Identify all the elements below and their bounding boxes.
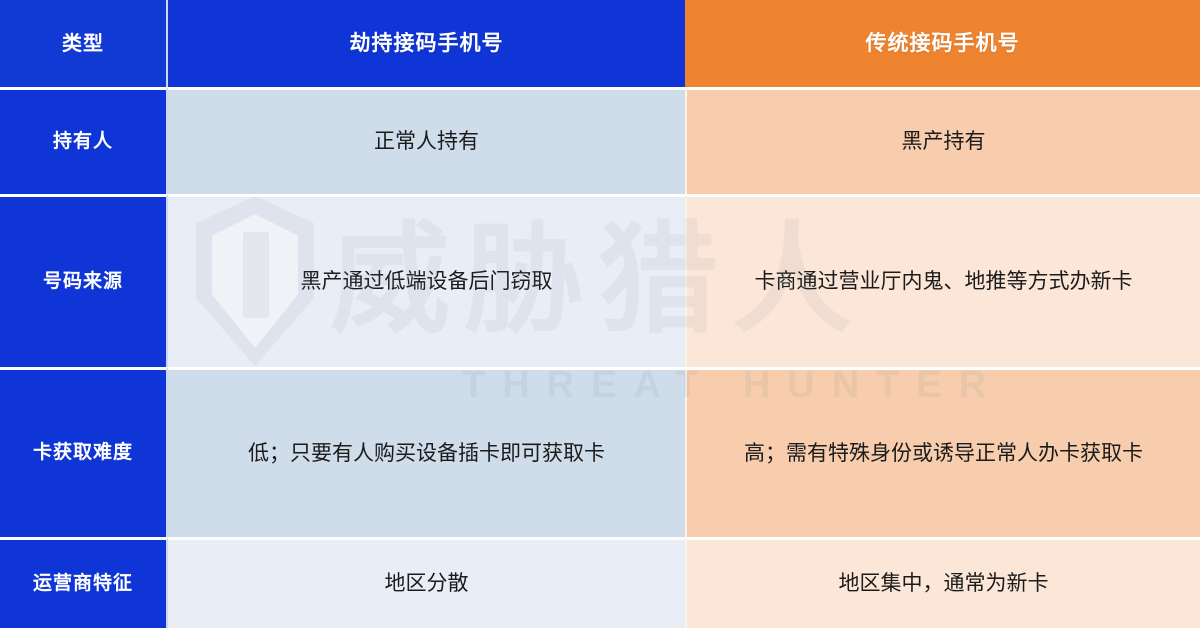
table-row-label-holder-text: 持有人 (43, 129, 123, 156)
table-row-label-holder: 持有人 (0, 87, 168, 194)
table-cell-card-difficulty-traditional: 高；需有特殊身份或诱导正常人办卡获取卡 (685, 367, 1200, 537)
table-cell-card-difficulty-hijacked: 低；只要有人购买设备插卡即可获取卡 (168, 367, 685, 537)
table-cell-card-difficulty-traditional-text: 高；需有特殊身份或诱导正常人办卡获取卡 (734, 439, 1153, 468)
table-row-label-card-difficulty: 卡获取难度 (0, 367, 168, 537)
table-cell-carrier-traits-hijacked-text: 地区分散 (375, 569, 479, 598)
table-cell-holder-hijacked-text: 正常人持有 (364, 127, 489, 156)
table-row-label-carrier-traits-text: 运营商特征 (23, 571, 143, 598)
table-row-label-card-difficulty-text: 卡获取难度 (23, 440, 143, 467)
table-header-type-label: 类型 (52, 30, 114, 58)
table-cell-holder-hijacked: 正常人持有 (168, 87, 685, 194)
table-header-traditional-label: 传统接码手机号 (856, 29, 1030, 58)
table-cell-holder-traditional: 黑产持有 (685, 87, 1200, 194)
table-cell-carrier-traits-traditional-text: 地区集中，通常为新卡 (829, 569, 1059, 598)
table-header-hijacked-label: 劫持接码手机号 (340, 29, 514, 58)
table-cell-holder-traditional-text: 黑产持有 (892, 127, 996, 156)
table-cell-card-difficulty-hijacked-text: 低；只要有人购买设备插卡即可获取卡 (238, 439, 615, 468)
table-row-label-carrier-traits: 运营商特征 (0, 537, 168, 628)
table-cell-number-source-hijacked-text: 黑产通过低端设备后门窃取 (291, 267, 563, 296)
table-header-hijacked: 劫持接码手机号 (168, 0, 685, 87)
table-header-type: 类型 (0, 0, 168, 87)
table-header-traditional: 传统接码手机号 (685, 0, 1200, 87)
table-cell-number-source-traditional-text: 卡商通过营业厅内鬼、地推等方式办新卡 (745, 267, 1143, 296)
comparison-table: 威胁猎人 THREAT HUNTER 类型 劫持接码手机号 传统接码手机号 持有… (0, 0, 1200, 628)
table-cell-number-source-hijacked: 黑产通过低端设备后门窃取 (168, 194, 685, 367)
table-cell-carrier-traits-hijacked: 地区分散 (168, 537, 685, 628)
table-row-label-number-source: 号码来源 (0, 194, 168, 367)
table-cell-carrier-traits-traditional: 地区集中，通常为新卡 (685, 537, 1200, 628)
table-grid: 类型 劫持接码手机号 传统接码手机号 持有人 正常人持有 黑产持有 号码来源 黑… (0, 0, 1200, 628)
table-row-label-number-source-text: 号码来源 (33, 269, 133, 296)
table-cell-number-source-traditional: 卡商通过营业厅内鬼、地推等方式办新卡 (685, 194, 1200, 367)
